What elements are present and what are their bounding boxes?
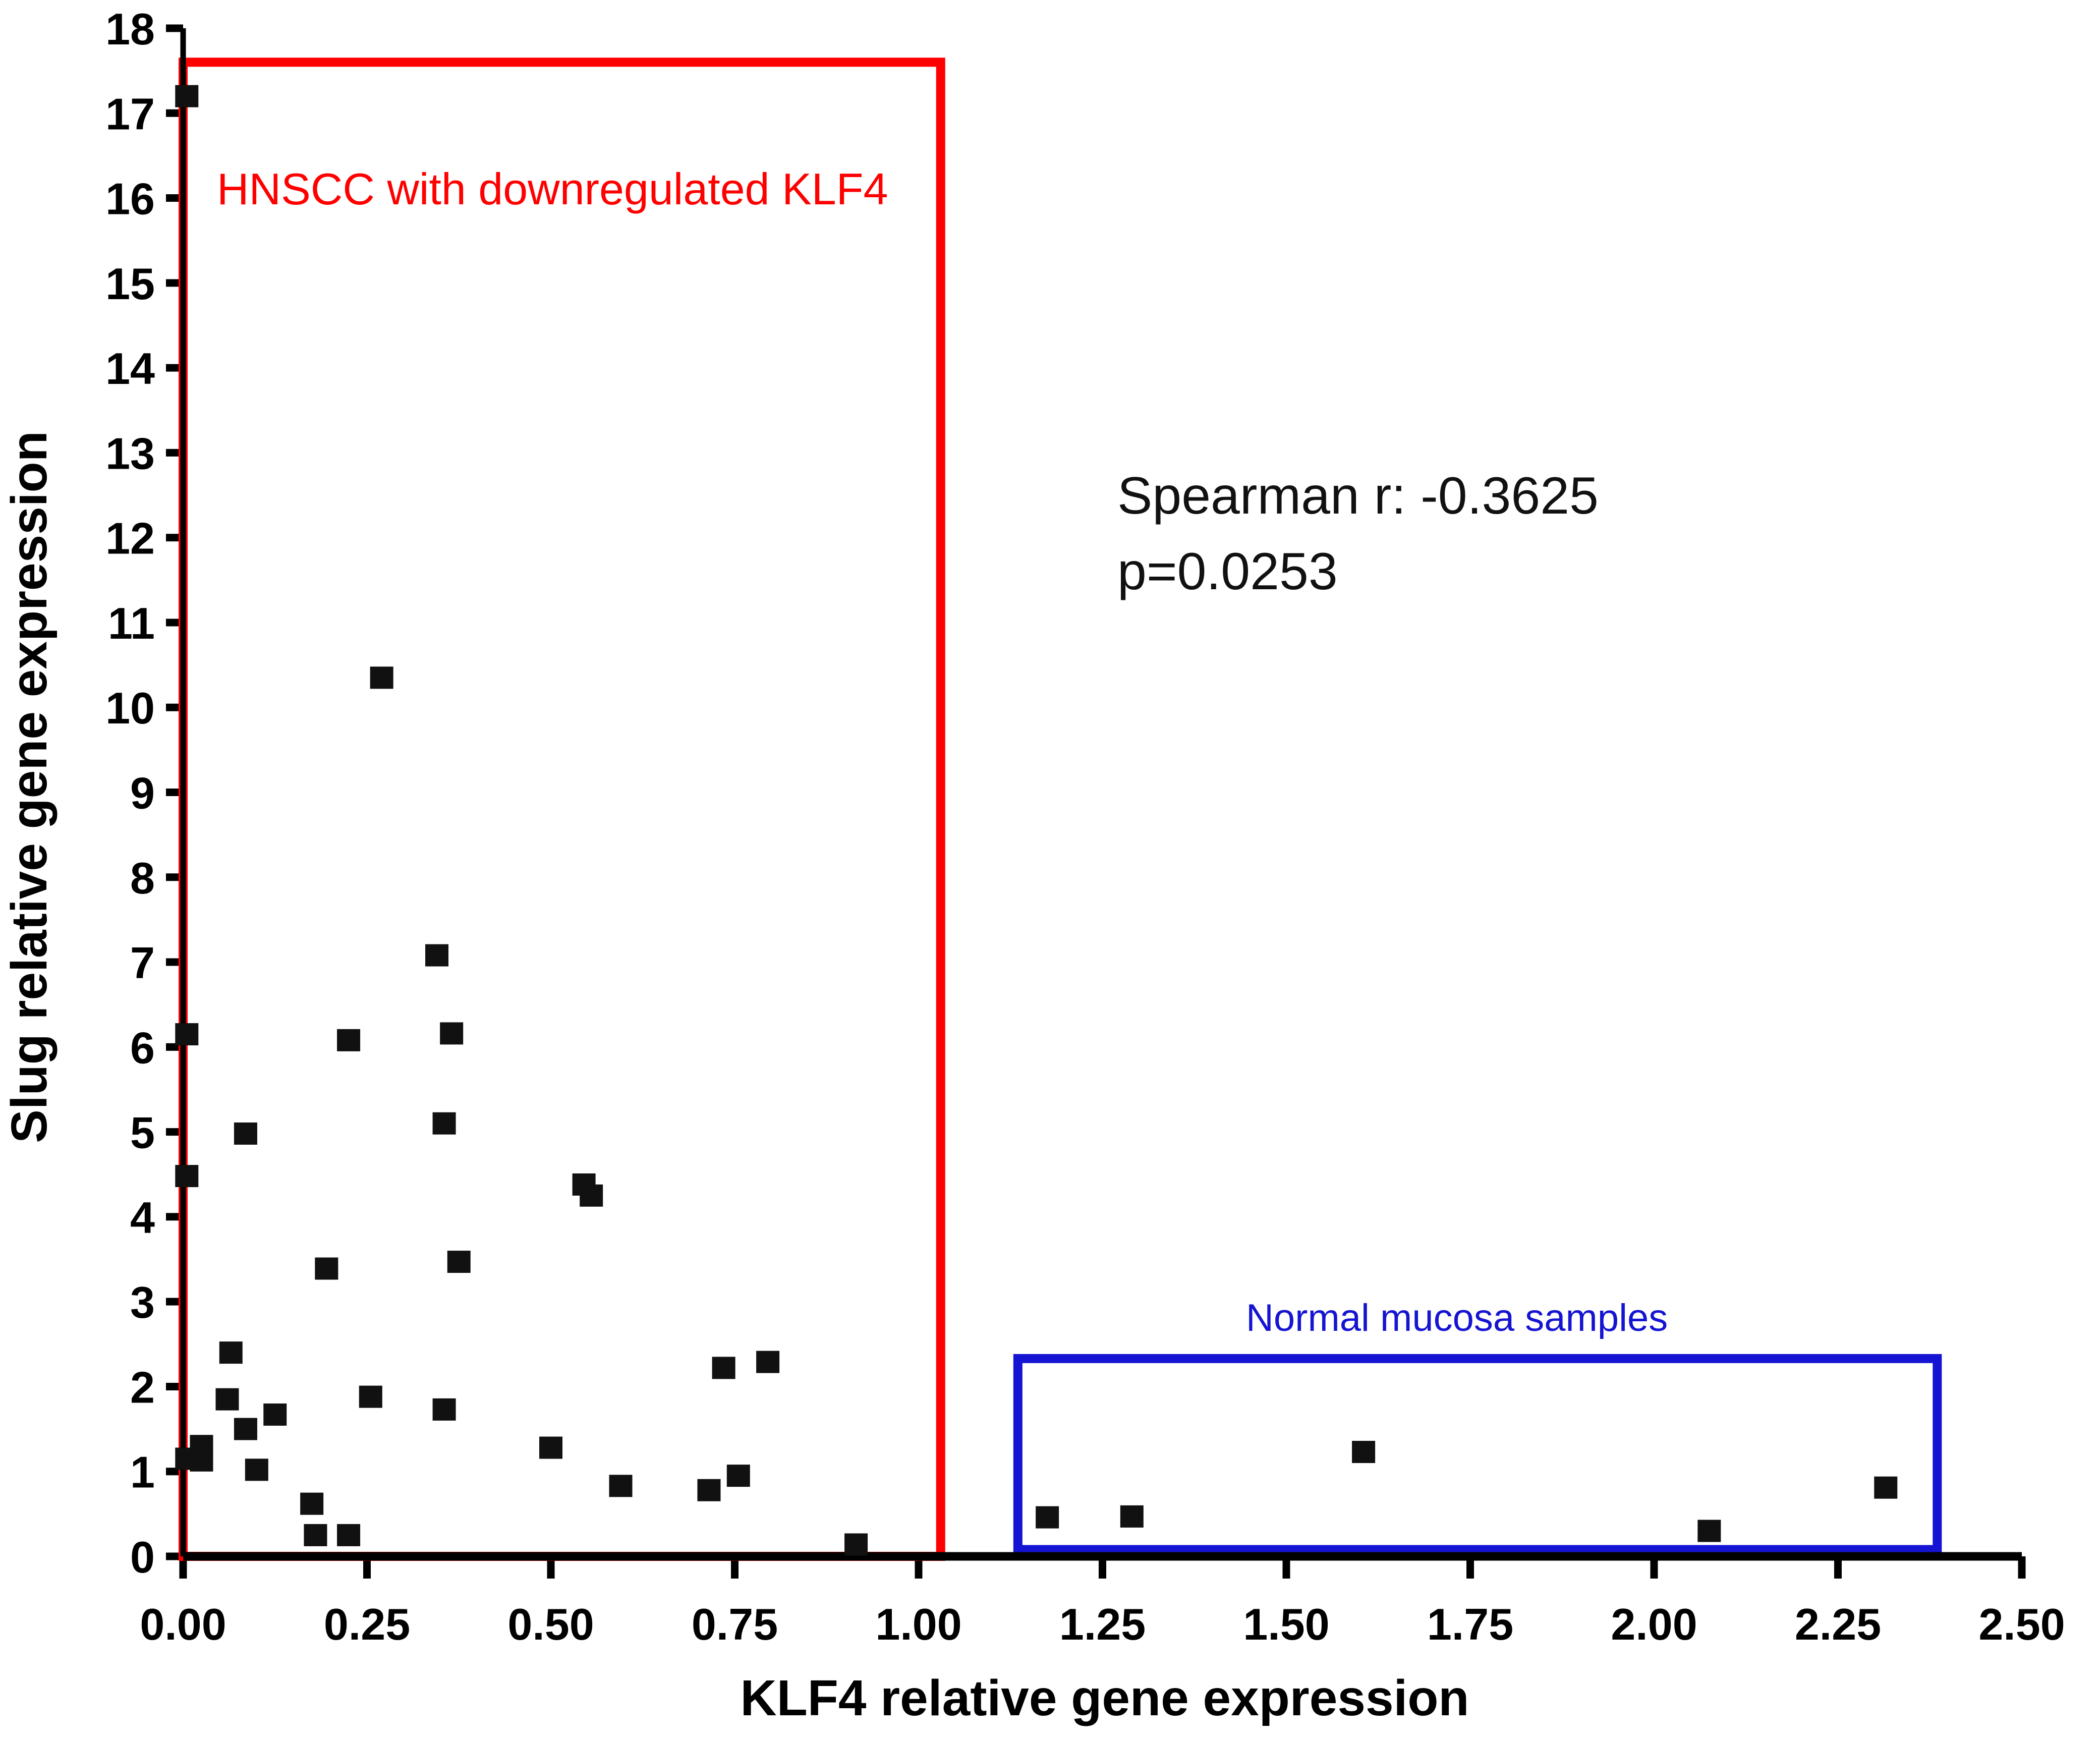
data-point-marker [219,1341,243,1364]
data-point-marker [337,1524,360,1546]
data-point-marker [359,1386,382,1408]
data-point-marker [756,1351,779,1373]
y-tick-label: 3 [130,1277,155,1327]
data-point-marker [190,1449,213,1472]
data-point-marker [1120,1505,1144,1528]
x-tick-label: 1.75 [1427,1599,1513,1649]
y-tick-label: 5 [130,1108,155,1158]
x-tick-label: 1.25 [1059,1599,1146,1649]
x-tick-label: 0.75 [692,1599,778,1649]
data-point-marker [337,1029,360,1051]
axis-lines-layer [183,28,2022,1556]
y-tick-label: 10 [105,683,155,733]
data-point-marker [1697,1520,1721,1542]
data-point-marker [697,1479,720,1501]
data-point-marker [175,85,198,107]
data-point-marker [263,1404,287,1426]
data-point-marker [370,666,393,689]
y-tick-label: 1 [130,1447,155,1497]
x-tick-label: 0.00 [140,1599,226,1649]
data-point-marker [315,1258,338,1280]
x-tick-label: 2.50 [1978,1599,2065,1649]
x-tick-label: 2.00 [1611,1599,1697,1649]
data-point-marker [433,1398,456,1421]
y-tick-label: 13 [105,428,155,478]
data-point-marker [215,1388,239,1411]
data-point-marker [175,1165,198,1187]
normal-mucosa-annotation-label: Normal mucosa samples [1246,1297,1668,1339]
data-point-marker [175,1023,198,1045]
data-point-marker [245,1458,268,1481]
y-tick-label: 8 [130,853,155,903]
data-point-marker [1036,1506,1059,1529]
hnscc-box [183,62,941,1556]
y-axis-title: Slug relative gene expression [1,431,58,1143]
data-point-marker [234,1418,257,1440]
data-point-marker [304,1524,327,1546]
data-point-marker [609,1475,633,1497]
y-tick-label: 15 [105,259,155,309]
data-point-marker [727,1465,750,1487]
data-point-marker [440,1022,463,1044]
data-point-marker [425,944,448,967]
spearman-r-annotation: Spearman r: -0.3625 [1117,467,1599,525]
y-tick-label: 18 [105,4,155,54]
y-tick-label: 14 [105,344,155,394]
data-point-marker [580,1185,603,1207]
y-tick-label: 7 [130,938,155,988]
y-tick-label: 16 [105,174,155,224]
data-point-marker [234,1122,257,1145]
y-tick-label: 6 [130,1023,155,1073]
normal-box [1018,1359,1938,1550]
x-tick-label: 2.25 [1795,1599,1881,1649]
data-point-marker [844,1533,868,1555]
x-tick-label: 0.50 [507,1599,594,1649]
hnscc-annotation-label: HNSCC with downregulated KLF4 [217,164,888,214]
y-tick-label: 12 [105,514,155,564]
y-tick-label: 4 [130,1193,155,1243]
y-tick-label: 9 [130,768,155,818]
y-tick-label: 0 [130,1532,155,1582]
data-point-marker [447,1251,471,1273]
highlight-boxes-layer [183,62,1937,1556]
tick-labels-layer: 01234567891011121314151617180.000.250.50… [105,4,2065,1649]
axis-ticks-layer [166,28,2022,1579]
y-tick-label: 17 [105,89,155,139]
y-tick-label: 11 [108,598,155,648]
scatter-plot-svg: 01234567891011121314151617180.000.250.50… [0,0,2100,1740]
data-point-marker [433,1112,456,1135]
x-tick-label: 0.25 [324,1599,410,1649]
p-value-annotation: p=0.0253 [1117,542,1338,601]
data-point-marker [1874,1477,1897,1499]
x-tick-label: 1.00 [875,1599,961,1649]
data-point-marker [300,1493,323,1515]
x-axis-title: KLF4 relative gene expression [740,1670,1469,1726]
y-tick-label: 2 [130,1362,155,1412]
scatter-plot-figure: 01234567891011121314151617180.000.250.50… [0,0,2100,1740]
data-point-marker [1352,1441,1375,1463]
x-tick-label: 1.50 [1243,1599,1329,1649]
data-point-marker [539,1437,562,1459]
data-point-marker [712,1357,735,1379]
